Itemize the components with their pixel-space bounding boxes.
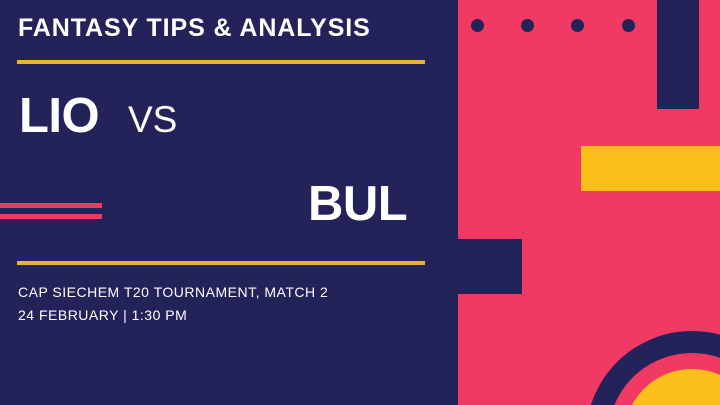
gold-divider-bottom — [17, 261, 425, 265]
circle-dot-icon — [471, 19, 484, 32]
versus-label: VS — [128, 101, 177, 138]
circle-dot-icon — [521, 19, 534, 32]
decorative-panel — [458, 0, 720, 405]
pink-accent-line — [0, 214, 102, 219]
yellow-horizontal-bar-shape — [581, 146, 720, 191]
content-panel: FANTASY TIPS & ANALYSIS LIO VS BUL CAP S… — [0, 0, 458, 405]
away-team-abbr: BUL — [308, 180, 407, 229]
match-meta: CAP SIECHEM T20 TOURNAMENT, MATCH 2 24 F… — [18, 281, 328, 326]
tournament-name: CAP SIECHEM T20 TOURNAMENT, MATCH 2 — [18, 281, 328, 304]
navy-notch-shape — [458, 239, 522, 294]
navy-vertical-bar-shape — [657, 0, 699, 109]
pink-accent-line — [0, 203, 102, 208]
match-schedule: 24 FEBRUARY | 1:30 PM — [18, 304, 328, 327]
home-team-abbr: LIO — [19, 92, 99, 141]
circle-dot-icon — [571, 19, 584, 32]
circle-dot-icon — [622, 19, 635, 32]
fantasy-match-poster: FANTASY TIPS & ANALYSIS LIO VS BUL CAP S… — [0, 0, 720, 405]
